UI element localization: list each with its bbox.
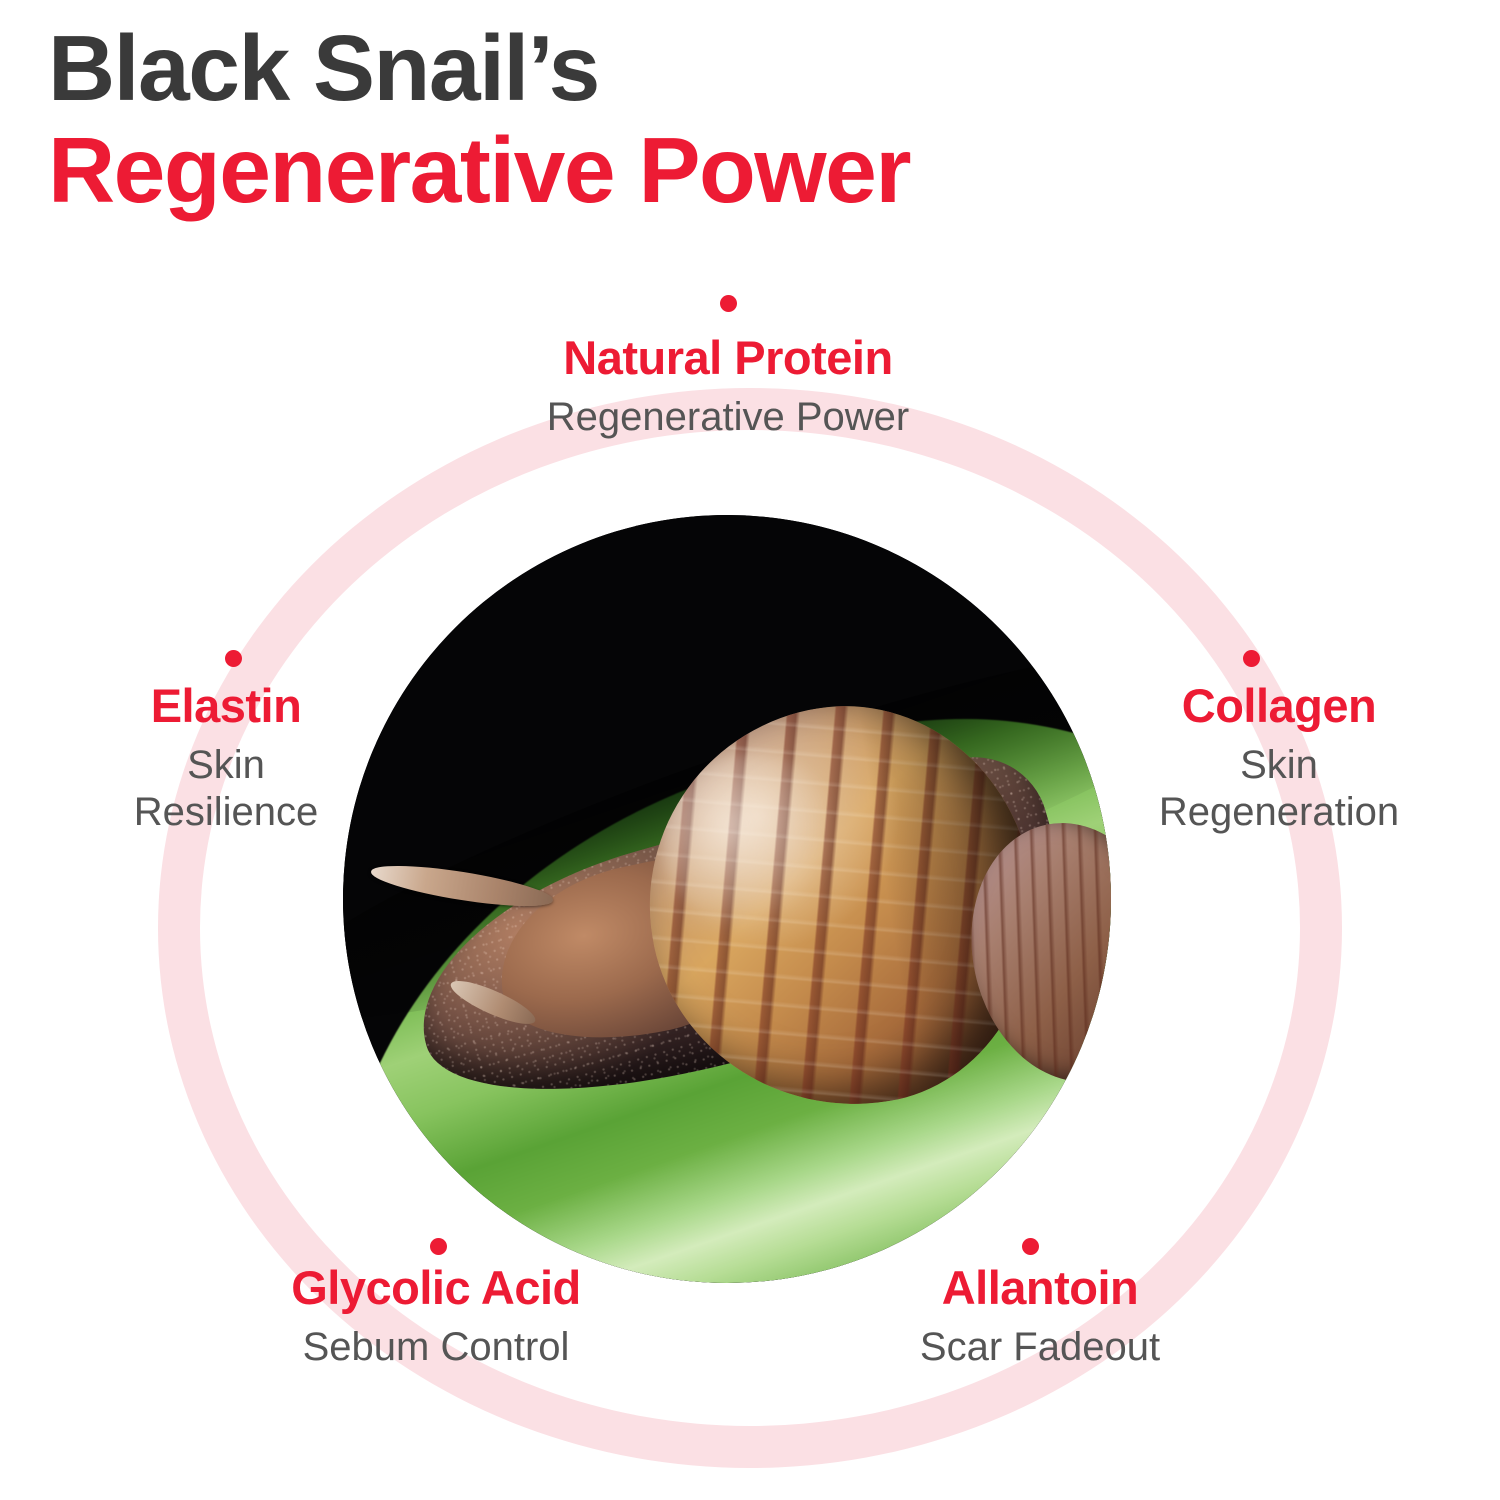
ingredient-title: Allantoin xyxy=(820,1262,1260,1314)
benefit-line: Regeneration xyxy=(1080,789,1478,836)
headline-line-1: Black Snail’s xyxy=(48,18,1348,118)
snail-tentacle-short xyxy=(343,538,383,649)
photo-background xyxy=(343,515,1111,1283)
ingredient-benefit: Skin Resilience xyxy=(48,742,404,836)
node-dot-allantoin xyxy=(1022,1238,1039,1255)
ingredient-benefit: Sebum Control xyxy=(196,1324,676,1371)
headline-line-2: Regenerative Power xyxy=(48,118,1348,222)
ingredient-elastin: Elastin Skin Resilience xyxy=(48,680,404,836)
benefit-line: Skin xyxy=(1080,742,1478,789)
infographic-page: Black Snail’s Regenerative Power xyxy=(0,0,1500,1500)
ingredient-title: Glycolic Acid xyxy=(196,1262,676,1314)
node-dot-glycolic-acid xyxy=(430,1238,447,1255)
node-dot-collagen xyxy=(1243,650,1260,667)
ingredient-natural-protein: Natural Protein Regenerative Power xyxy=(430,332,1026,441)
ingredient-allantoin: Allantoin Scar Fadeout xyxy=(820,1262,1260,1371)
ingredient-benefit: Regenerative Power xyxy=(430,394,1026,441)
benefit-line: Regenerative Power xyxy=(430,394,1026,441)
benefit-line: Resilience xyxy=(48,789,404,836)
node-dot-elastin xyxy=(225,650,242,667)
benefit-line: Skin xyxy=(48,742,404,789)
ingredient-title: Elastin xyxy=(48,680,404,732)
snail-photo-circle xyxy=(343,515,1111,1283)
ingredient-collagen: Collagen Skin Regeneration xyxy=(1080,680,1478,836)
headline-block: Black Snail’s Regenerative Power xyxy=(48,18,1348,223)
ingredient-title: Collagen xyxy=(1080,680,1478,732)
node-dot-natural-protein xyxy=(720,295,737,312)
ingredient-benefit: Skin Regeneration xyxy=(1080,742,1478,836)
benefit-line: Sebum Control xyxy=(196,1324,676,1371)
ingredient-glycolic-acid: Glycolic Acid Sebum Control xyxy=(196,1262,676,1371)
ingredient-benefit: Scar Fadeout xyxy=(820,1324,1260,1371)
benefit-line: Scar Fadeout xyxy=(820,1324,1260,1371)
ingredient-title: Natural Protein xyxy=(430,332,1026,384)
snail-tentacle-tip xyxy=(343,515,368,540)
